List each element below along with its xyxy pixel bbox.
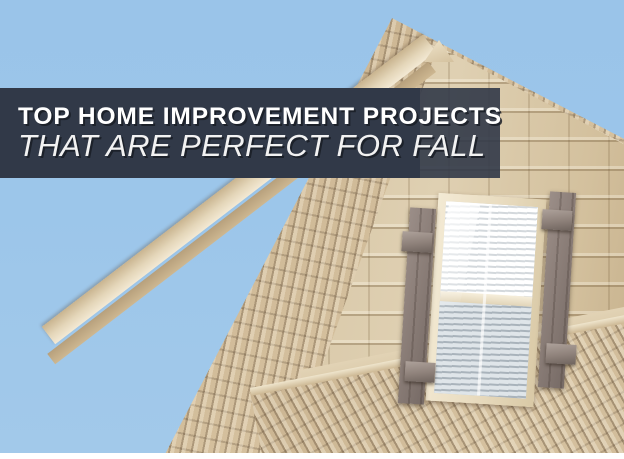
bottom-white-margin bbox=[0, 453, 624, 459]
right-shutter-bottom-batten bbox=[545, 343, 576, 365]
left-shutter-top-batten bbox=[401, 231, 432, 253]
house-photograph: TOP HOME IMPROVEMENT PROJECTS THAT ARE P… bbox=[0, 0, 624, 453]
right-shutter-top-batten bbox=[541, 209, 572, 231]
left-shutter-bottom-batten bbox=[404, 361, 435, 383]
title-banner bbox=[0, 88, 500, 178]
window-glass bbox=[434, 201, 538, 398]
house-illustration bbox=[0, 0, 624, 453]
hero-image-stage: TOP HOME IMPROVEMENT PROJECTS THAT ARE P… bbox=[0, 0, 624, 459]
double-hung-window bbox=[426, 193, 547, 407]
